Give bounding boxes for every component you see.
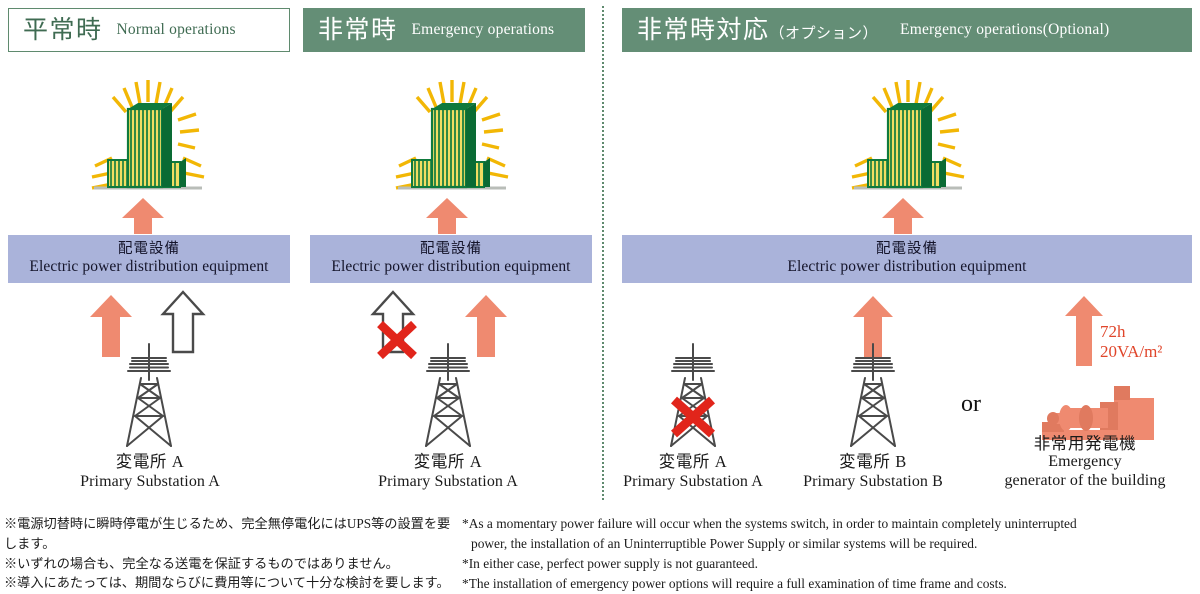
generator-caption: 非常用発電機 Emergency generator of the buildi… [976,434,1194,490]
distribution-box-optional-jp: 配電設備 [876,241,938,259]
generator-caption-jp: 非常用発電機 [976,434,1194,453]
distribution-box-optional: 配電設備 Electric power distribution equipme… [622,235,1192,283]
distribution-box-emergency-jp: 配電設備 [420,241,482,259]
or-separator-label: or [961,391,981,418]
panel-header-emergency: 非常時 Emergency operations [303,8,585,52]
substation-caption-normal-a-en: Primary Substation A [40,472,260,491]
transmission-tower-normal-a [113,340,185,448]
panel-header-optional-en: Emergency operations(Optional) [900,21,1109,39]
substation-caption-optional-b: 変電所 B Primary Substation B [763,452,983,491]
building-icon-normal [68,76,228,206]
building-icon-emergency [372,76,532,206]
generator-spec-capacity: 20VA/m² [1100,342,1162,362]
generator-caption-en-line1: Emergency [976,453,1194,472]
generator-spec-note: 72h 20VA/m² [1100,322,1162,362]
substation-caption-emergency-a-jp: 変電所 A [338,452,558,472]
distribution-box-normal: 配電設備 Electric power distribution equipme… [8,235,290,283]
distribution-box-emergency-en: Electric power distribution equipment [331,258,570,277]
transmission-tower-optional-b [837,340,909,448]
feed-arrow-solid-generator [1063,296,1105,366]
panel-header-normal: 平常時 Normal operations [8,8,290,52]
distribution-box-emergency: 配電設備 Electric power distribution equipme… [310,235,592,283]
distribution-box-optional-en: Electric power distribution equipment [787,258,1026,277]
distribution-box-normal-en: Electric power distribution equipment [29,258,268,277]
panel-header-normal-jp: 平常時 [23,18,103,43]
footnote-jp-3: ※導入にあたっては、期間ならびに費用等について十分な検討を要します。 [4,573,454,593]
panel-divider [602,6,604,500]
footnote-en-1: *As a momentary power failure will occur… [462,514,1198,534]
footnote-en-1-cont: power, the installation of an Uninterrup… [462,534,1198,554]
infographic-canvas: 平常時 Normal operations 非常時 Emergency oper… [0,0,1200,577]
substation-caption-normal-a: 変電所 A Primary Substation A [40,452,260,491]
panel-header-normal-en: Normal operations [117,21,236,39]
substation-caption-normal-a-jp: 変電所 A [40,452,260,472]
footnotes-japanese: ※電源切替時に瞬時停電が生じるため、完全無停電化にはUPS等の設置を要します。 … [4,514,454,593]
substation-caption-optional-b-jp: 変電所 B [763,452,983,472]
power-arrow-to-building-normal [122,198,164,234]
transmission-tower-emergency-a [412,340,484,448]
generator-spec-duration: 72h [1100,322,1162,342]
panel-header-emergency-optional: 非常時対応 （オプション） Emergency operations(Optio… [622,8,1192,52]
footnote-jp-1: ※電源切替時に瞬時停電が生じるため、完全無停電化にはUPS等の設置を要します。 [4,514,454,554]
footnote-en-3: *The installation of emergency power opt… [462,574,1198,594]
panel-header-optional-jp-suffix: （オプション） [770,27,879,42]
substation-caption-optional-b-en: Primary Substation B [763,472,983,491]
distribution-box-normal-jp: 配電設備 [118,241,180,259]
panel-header-emergency-jp: 非常時 [318,18,398,43]
footnote-en-2: *In either case, perfect power supply is… [462,554,1198,574]
substation-caption-emergency-a-en: Primary Substation A [338,472,558,491]
panel-header-emergency-en: Emergency operations [412,21,555,39]
generator-caption-en-line2: generator of the building [976,472,1194,491]
failure-x-icon-optional-a [668,394,718,440]
building-icon-optional [828,76,988,206]
power-arrow-to-building-optional [882,198,924,234]
footnotes-english: *As a momentary power failure will occur… [462,514,1198,594]
emergency-generator-icon [1028,378,1164,440]
panel-header-optional-jp: 非常時対応 [637,18,770,43]
footnote-jp-2: ※いずれの場合も、完全なる送電を保証するものではありません。 [4,554,454,574]
substation-caption-emergency-a: 変電所 A Primary Substation A [338,452,558,491]
power-arrow-to-building-emergency [426,198,468,234]
